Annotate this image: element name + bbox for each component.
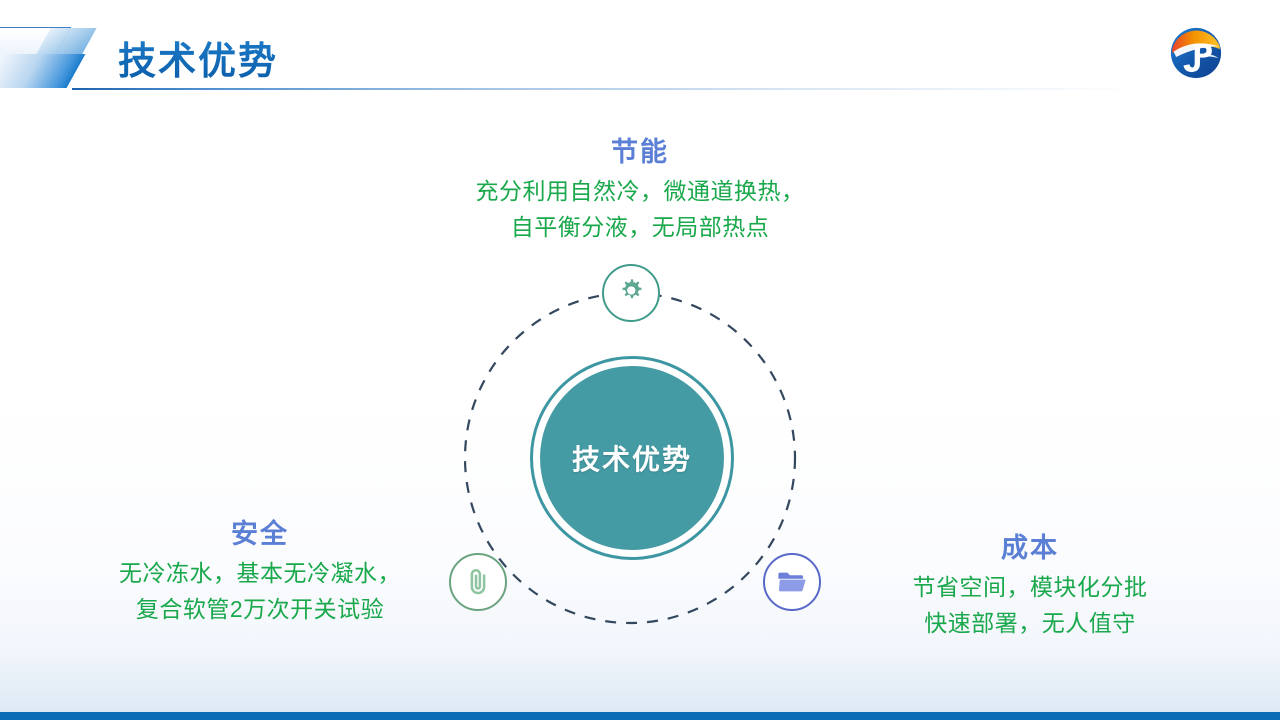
gear-icon — [615, 277, 647, 309]
node-energy[interactable] — [602, 264, 660, 322]
company-logo-icon — [1163, 20, 1229, 86]
advantages-diagram: 技术优势 — [430, 258, 830, 658]
feature-block-cost: 成本 节省空间，模块化分批 快速部署，无人值守 — [800, 532, 1260, 642]
slide-header: 技术优势 — [0, 0, 1280, 96]
feature-body-safety: 无冷冻水，基本无冷凝水， 复合软管2万次开关试验 — [30, 556, 490, 627]
folder-icon — [775, 565, 809, 599]
feature-body-energy: 充分利用自然冷，微通道换热， 自平衡分液，无局部热点 — [380, 174, 900, 245]
node-safety[interactable] — [449, 553, 507, 611]
node-cost[interactable] — [763, 553, 821, 611]
header-divider — [72, 88, 1142, 90]
slide-canvas: 技术优势 节能 充 — [0, 0, 1280, 720]
paperclip-icon — [462, 566, 494, 598]
feature-heading-energy: 节能 — [380, 136, 900, 168]
header-decoration-bar — [0, 54, 85, 88]
footer-gradient — [0, 652, 1280, 712]
footer-accent-bar — [0, 712, 1280, 720]
feature-block-safety: 安全 无冷冻水，基本无冷凝水， 复合软管2万次开关试验 — [30, 518, 490, 628]
page-title: 技术优势 — [118, 30, 278, 85]
core-circle: 技术优势 — [540, 366, 724, 550]
core-label: 技术优势 — [572, 438, 692, 478]
feature-block-energy: 节能 充分利用自然冷，微通道换热， 自平衡分液，无局部热点 — [380, 136, 900, 246]
feature-body-cost: 节省空间，模块化分批 快速部署，无人值守 — [800, 570, 1260, 641]
feature-heading-safety: 安全 — [30, 518, 490, 550]
feature-heading-cost: 成本 — [800, 532, 1260, 564]
